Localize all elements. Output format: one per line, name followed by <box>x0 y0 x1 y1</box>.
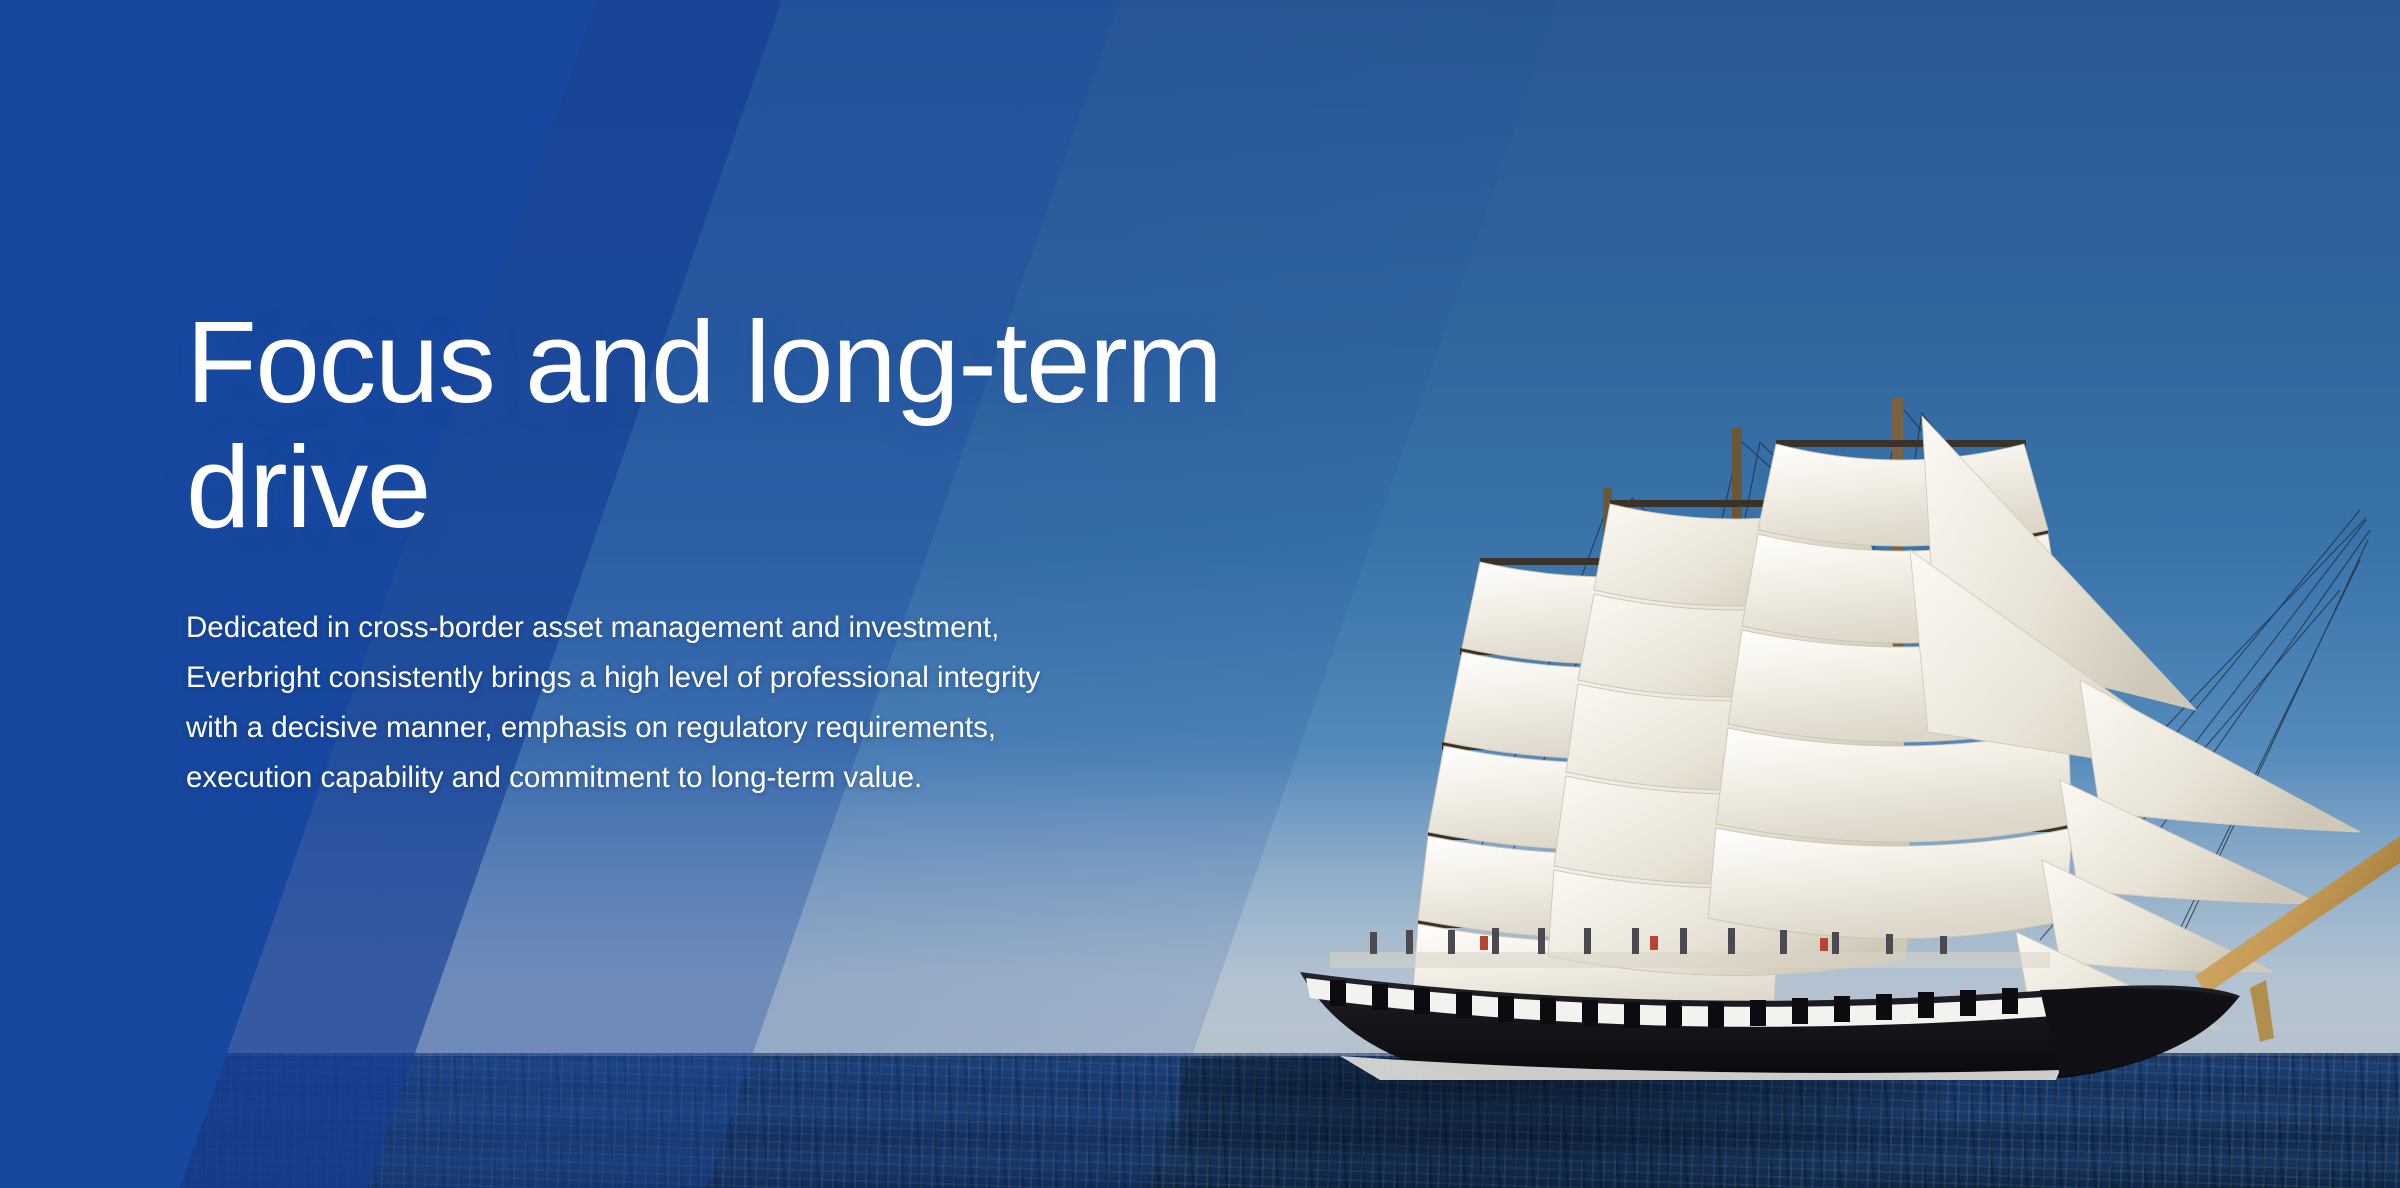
hero-headline: Focus and long-term drive <box>186 300 1346 551</box>
hero-body-text: Dedicated in cross-border asset manageme… <box>186 603 1096 803</box>
jib-and-staysails <box>1910 416 2360 1028</box>
hero-banner: Focus and long-term drive Dedicated in c… <box>0 0 2400 1188</box>
hero-content: Focus and long-term drive Dedicated in c… <box>186 300 1486 803</box>
